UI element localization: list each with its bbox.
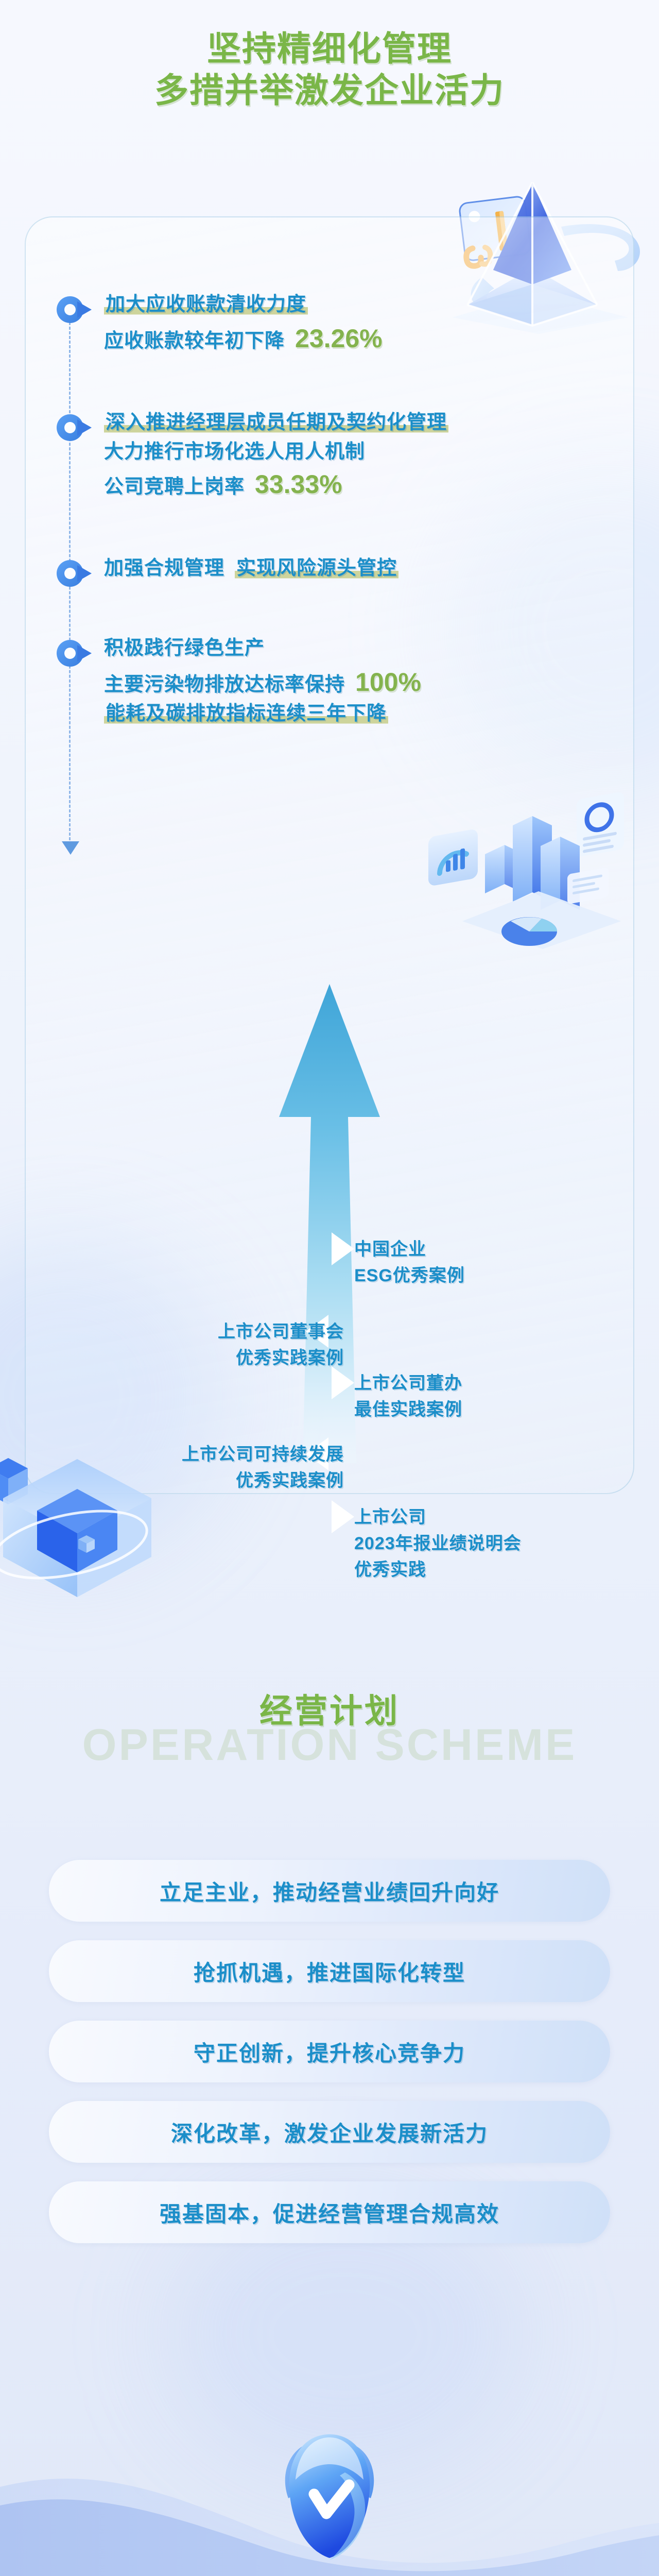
highlight-item: 积极践行绿色生产 主要污染物排放达标率保持100% 能耗及碳排放指标连续三年下降 <box>57 635 613 727</box>
award-chevron-right-icon <box>332 1500 354 1533</box>
plan-card[interactable]: 守正创新，提升核心竞争力 <box>49 2021 610 2082</box>
metric-value: 33.33% <box>255 470 342 499</box>
metric-value: 23.26% <box>295 324 383 353</box>
glass-checkmark-icon <box>263 2413 396 2567</box>
award-label: 上市公司 2023年报业绩说明会 优秀实践 <box>354 1504 522 1583</box>
bullet-ring-arrow-icon <box>57 294 97 326</box>
hero-header: 坚持精细化管理 多措并举激发企业活力 <box>0 0 659 111</box>
page-title: 坚持精细化管理 多措并举激发企业活力 <box>0 28 659 111</box>
highlight-heading: 深入推进经理层成员任期及契约化管理 <box>104 409 613 436</box>
bullet-ring-arrow-icon <box>57 412 97 444</box>
plan-card-label: 立足主业，推动经营业绩回升向好 <box>160 1875 499 1907</box>
highlights-timeline: 加大应收账款清收力度 应收账款较年初下降23.26% 深入推进经理层成员任期及契… <box>57 291 613 731</box>
bullet-ring-arrow-icon <box>57 638 97 670</box>
award-chevron-right-icon <box>332 1366 354 1399</box>
plan-card-label: 深化改革，激发企业发展新活力 <box>171 2116 488 2148</box>
award-label: 上市公司可持续发展 优秀实践案例 <box>182 1442 344 1494</box>
plan-card[interactable]: 立足主业，推动经营业绩回升向好 <box>49 1860 610 1922</box>
highlight-metric-line: 公司竞聘上岗率33.33% <box>104 466 613 502</box>
highlight-heading: 积极践行绿色生产 <box>104 635 613 662</box>
highlight-item: 加大应收账款清收力度 应收账款较年初下降23.26% <box>57 291 613 357</box>
infographic-poster: 坚持精细化管理 多措并举激发企业活力 <box>0 0 659 2576</box>
highlight-metric-line: 主要污染物排放达标率保持100% <box>104 664 613 700</box>
highlight-item: 加强合规管理实现风险源头管控 <box>57 555 613 582</box>
highlight-metric-line: 应收账款较年初下降23.26% <box>104 320 613 357</box>
bullet-ring-arrow-icon <box>57 558 97 590</box>
plan-card[interactable]: 深化改革，激发企业发展新活力 <box>49 2101 610 2163</box>
section-title: 经营计划 <box>0 1685 659 1732</box>
plan-card-label: 守正创新，提升核心竞争力 <box>194 2036 465 2067</box>
award-label: 上市公司董办 最佳实践案例 <box>354 1370 462 1423</box>
highlight-sub-line: 能耗及碳排放指标连续三年下降 <box>104 700 613 727</box>
plan-card-list: 立足主业，推动经营业绩回升向好 抢抓机遇，推进国际化转型 守正创新，提升核心竞争… <box>0 1860 659 2262</box>
award-label: 中国企业 ESG优秀案例 <box>354 1236 465 1289</box>
award-label: 上市公司董事会 优秀实践案例 <box>218 1319 344 1371</box>
plan-card[interactable]: 抢抓机遇，推进国际化转型 <box>49 1940 610 2002</box>
footer-decoration <box>0 2365 659 2576</box>
highlight-sub-line: 大力推行市场化选人用人机制 <box>104 438 613 466</box>
metric-value: 100% <box>355 668 421 697</box>
plan-card-label: 强基固本，促进经营管理合规高效 <box>160 2197 499 2228</box>
operation-scheme-header: OPERATION SCHEME 经营计划 <box>0 1685 659 1732</box>
award-chevron-right-icon <box>332 1232 354 1265</box>
plan-card[interactable]: 强基固本，促进经营管理合规高效 <box>49 2181 610 2243</box>
highlight-heading: 加强合规管理实现风险源头管控 <box>104 555 613 582</box>
timeline-arrow-icon <box>62 841 79 855</box>
title-line-2: 多措并举激发企业活力 <box>0 70 659 111</box>
title-line-1: 坚持精细化管理 <box>207 29 452 67</box>
highlight-heading: 加大应收账款清收力度 <box>104 291 613 318</box>
highlight-item: 深入推进经理层成员任期及契约化管理 大力推行市场化选人用人机制 公司竞聘上岗率3… <box>57 409 613 502</box>
awards-section: 中国企业 ESG优秀案例 上市公司董事会 优秀实践案例 上市公司董办 最佳实践案… <box>0 979 659 1463</box>
plan-card-label: 抢抓机遇，推进国际化转型 <box>194 1956 465 1987</box>
highlight-heading-part2: 实现风险源头管控 <box>235 557 398 579</box>
